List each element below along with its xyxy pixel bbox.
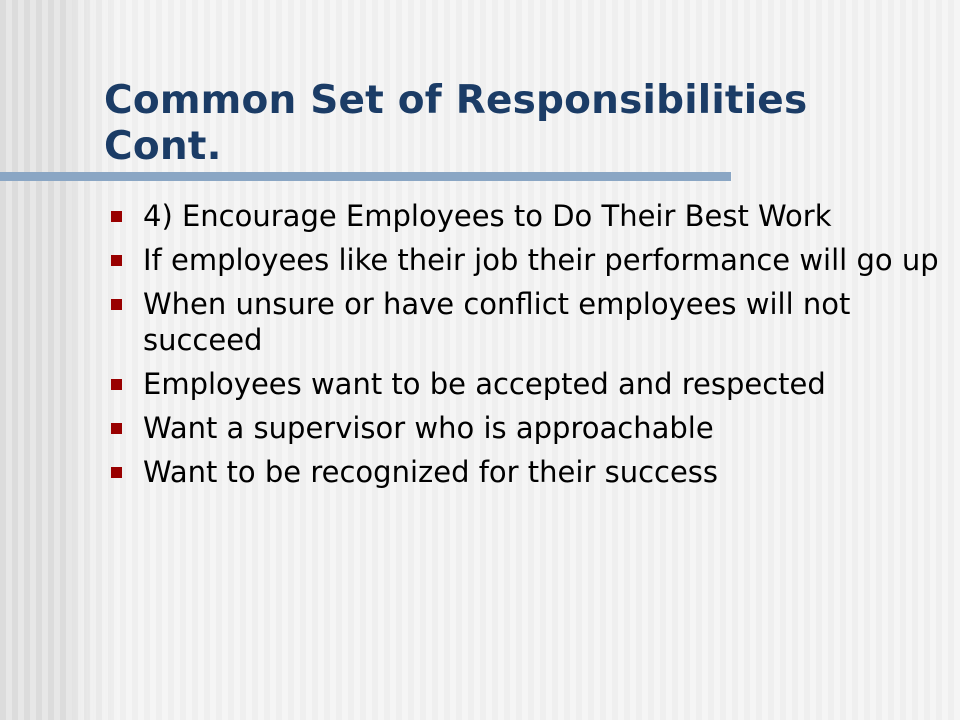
bullet-list-item: Employees want to be accepted and respec…	[108, 366, 948, 402]
slide-title: Common Set of Responsibilities Cont.	[104, 78, 934, 170]
square-bullet-icon	[111, 379, 122, 390]
square-bullet-icon	[111, 299, 122, 310]
bullet-item-text: Employees want to be accepted and respec…	[143, 366, 948, 402]
title-divider-rule	[0, 172, 731, 181]
square-bullet-icon	[111, 467, 122, 478]
slide-background-left-band	[0, 0, 72, 720]
bullet-list-item: 4) Encourage Employees to Do Their Best …	[108, 198, 948, 234]
bullet-item-text: If employees like their job their perfor…	[143, 242, 948, 278]
bullet-list-item: When unsure or have conflict employees w…	[108, 286, 948, 358]
presentation-slide: Common Set of Responsibilities Cont. 4) …	[0, 0, 960, 720]
slide-bullet-list: 4) Encourage Employees to Do Their Best …	[108, 198, 948, 490]
bullet-item-text: Want to be recognized for their success	[143, 454, 948, 490]
square-bullet-icon	[111, 423, 122, 434]
bullet-list-item: If employees like their job their perfor…	[108, 242, 948, 278]
square-bullet-icon	[111, 255, 122, 266]
bullet-item-text: 4) Encourage Employees to Do Their Best …	[143, 198, 948, 234]
bullet-item-text: When unsure or have conflict employees w…	[143, 286, 948, 358]
bullet-list-item: Want to be recognized for their success	[108, 454, 948, 490]
square-bullet-icon	[111, 211, 122, 222]
bullet-list-item: Want a supervisor who is approachable	[108, 410, 948, 446]
bullet-item-text: Want a supervisor who is approachable	[143, 410, 948, 446]
